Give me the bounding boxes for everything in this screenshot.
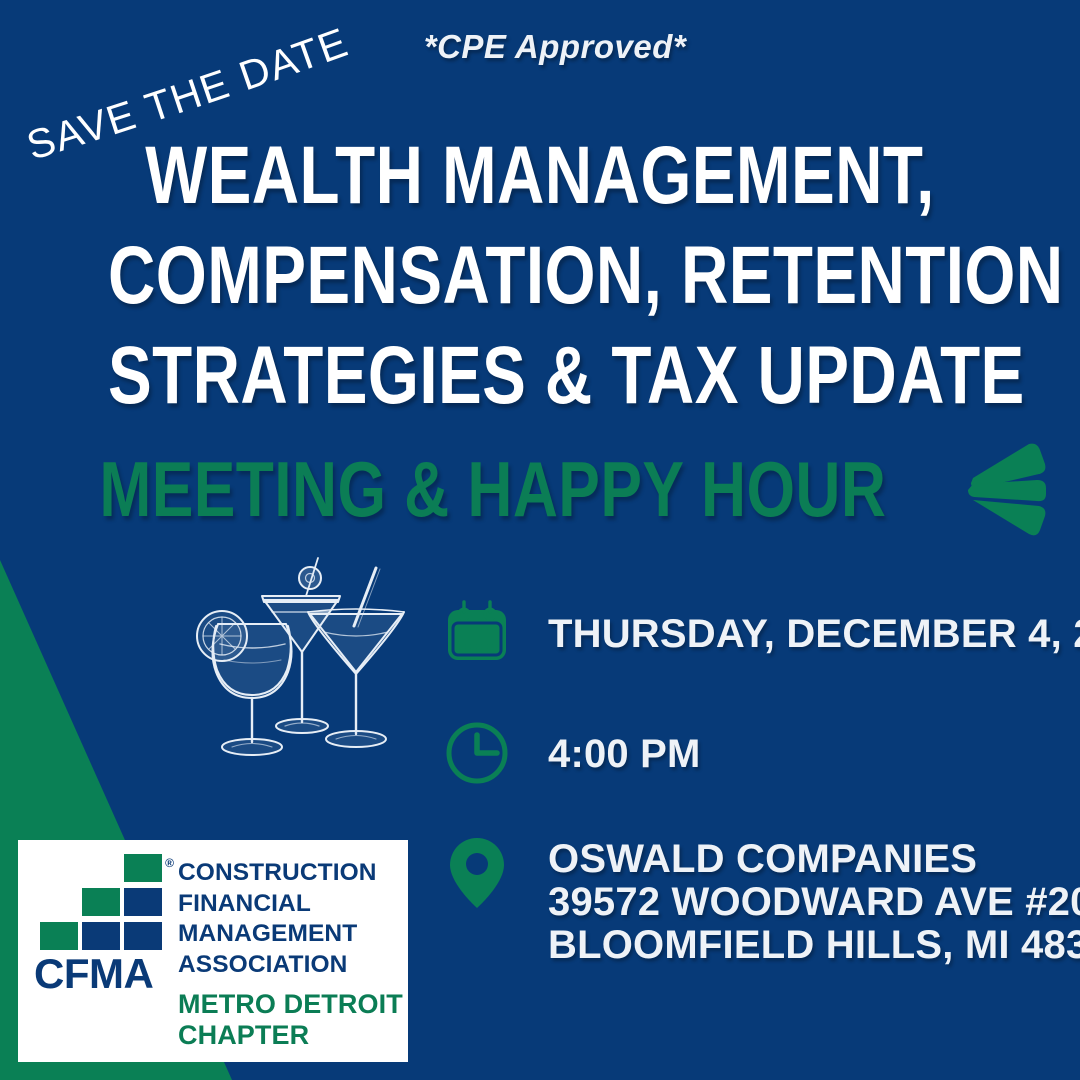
cfma-logo-mark: ® CFMA	[32, 854, 172, 996]
logo-word-financial: FINANCIAL	[178, 889, 403, 920]
detail-line: BLOOMFIELD HILLS, MI 48304	[548, 924, 1080, 967]
logo-word-construction: CONSTRUCTION	[178, 858, 403, 889]
title-line-1: WEALTH MANAGEMENT,	[108, 126, 972, 226]
calendar-icon	[440, 596, 514, 670]
cfma-acronym: CFMA	[34, 952, 172, 996]
event-details: THURSDAY, DECEMBER 4, 2025 4:00 PM	[440, 596, 1080, 1013]
burst-rays-icon	[967, 438, 1053, 542]
subtitle-row: MEETING & HAPPY HOUR	[0, 436, 1080, 542]
cocktail-glasses-illustration	[186, 548, 422, 772]
cpe-approved-note: *CPE Approved*	[400, 28, 710, 66]
detail-row-location: OSWALD COMPANIES 39572 WOODWARD AVE #201…	[440, 836, 1080, 967]
cfma-logo-wordmark: CONSTRUCTION FINANCIAL MANAGEMENT ASSOCI…	[178, 858, 403, 1051]
registered-trademark-icon: ®	[165, 856, 174, 870]
detail-line: 4:00 PM	[548, 733, 701, 776]
detail-row-time: 4:00 PM	[440, 716, 1080, 790]
page-title: WEALTH MANAGEMENT, COMPENSATION, RETENTI…	[0, 126, 1080, 426]
detail-row-date: THURSDAY, DECEMBER 4, 2025	[440, 596, 1080, 670]
chapter-line-1: METRO DETROIT	[178, 989, 403, 1020]
logo-word-management: MANAGEMENT	[178, 919, 403, 950]
detail-text-time: 4:00 PM	[548, 716, 701, 776]
event-flyer: SAVE THE DATE! *CPE Approved* WEALTH MAN…	[0, 0, 1080, 1080]
title-line-3: STRATEGIES & TAX UPDATE	[108, 326, 972, 426]
cfma-chapter-name: METRO DETROIT CHAPTER	[178, 989, 403, 1051]
cfma-logo: ® CFMA CONSTRUCTION FINANCIAL MANAGEMENT…	[18, 840, 408, 1062]
subtitle-text: MEETING & HAPPY HOUR	[100, 443, 887, 535]
detail-text-location: OSWALD COMPANIES 39572 WOODWARD AVE #201…	[548, 836, 1080, 967]
map-pin-icon	[440, 836, 514, 910]
title-line-2: COMPENSATION, RETENTION	[108, 226, 972, 326]
chapter-line-2: CHAPTER	[178, 1020, 403, 1051]
detail-line: THURSDAY, DECEMBER 4, 2025	[548, 613, 1080, 656]
cfma-blocks-icon: ®	[40, 854, 168, 950]
detail-line: OSWALD COMPANIES	[548, 838, 1080, 881]
detail-text-date: THURSDAY, DECEMBER 4, 2025	[548, 596, 1080, 656]
detail-line: 39572 WOODWARD AVE #201	[548, 881, 1080, 924]
clock-icon	[440, 716, 514, 790]
logo-word-association: ASSOCIATION	[178, 950, 403, 981]
